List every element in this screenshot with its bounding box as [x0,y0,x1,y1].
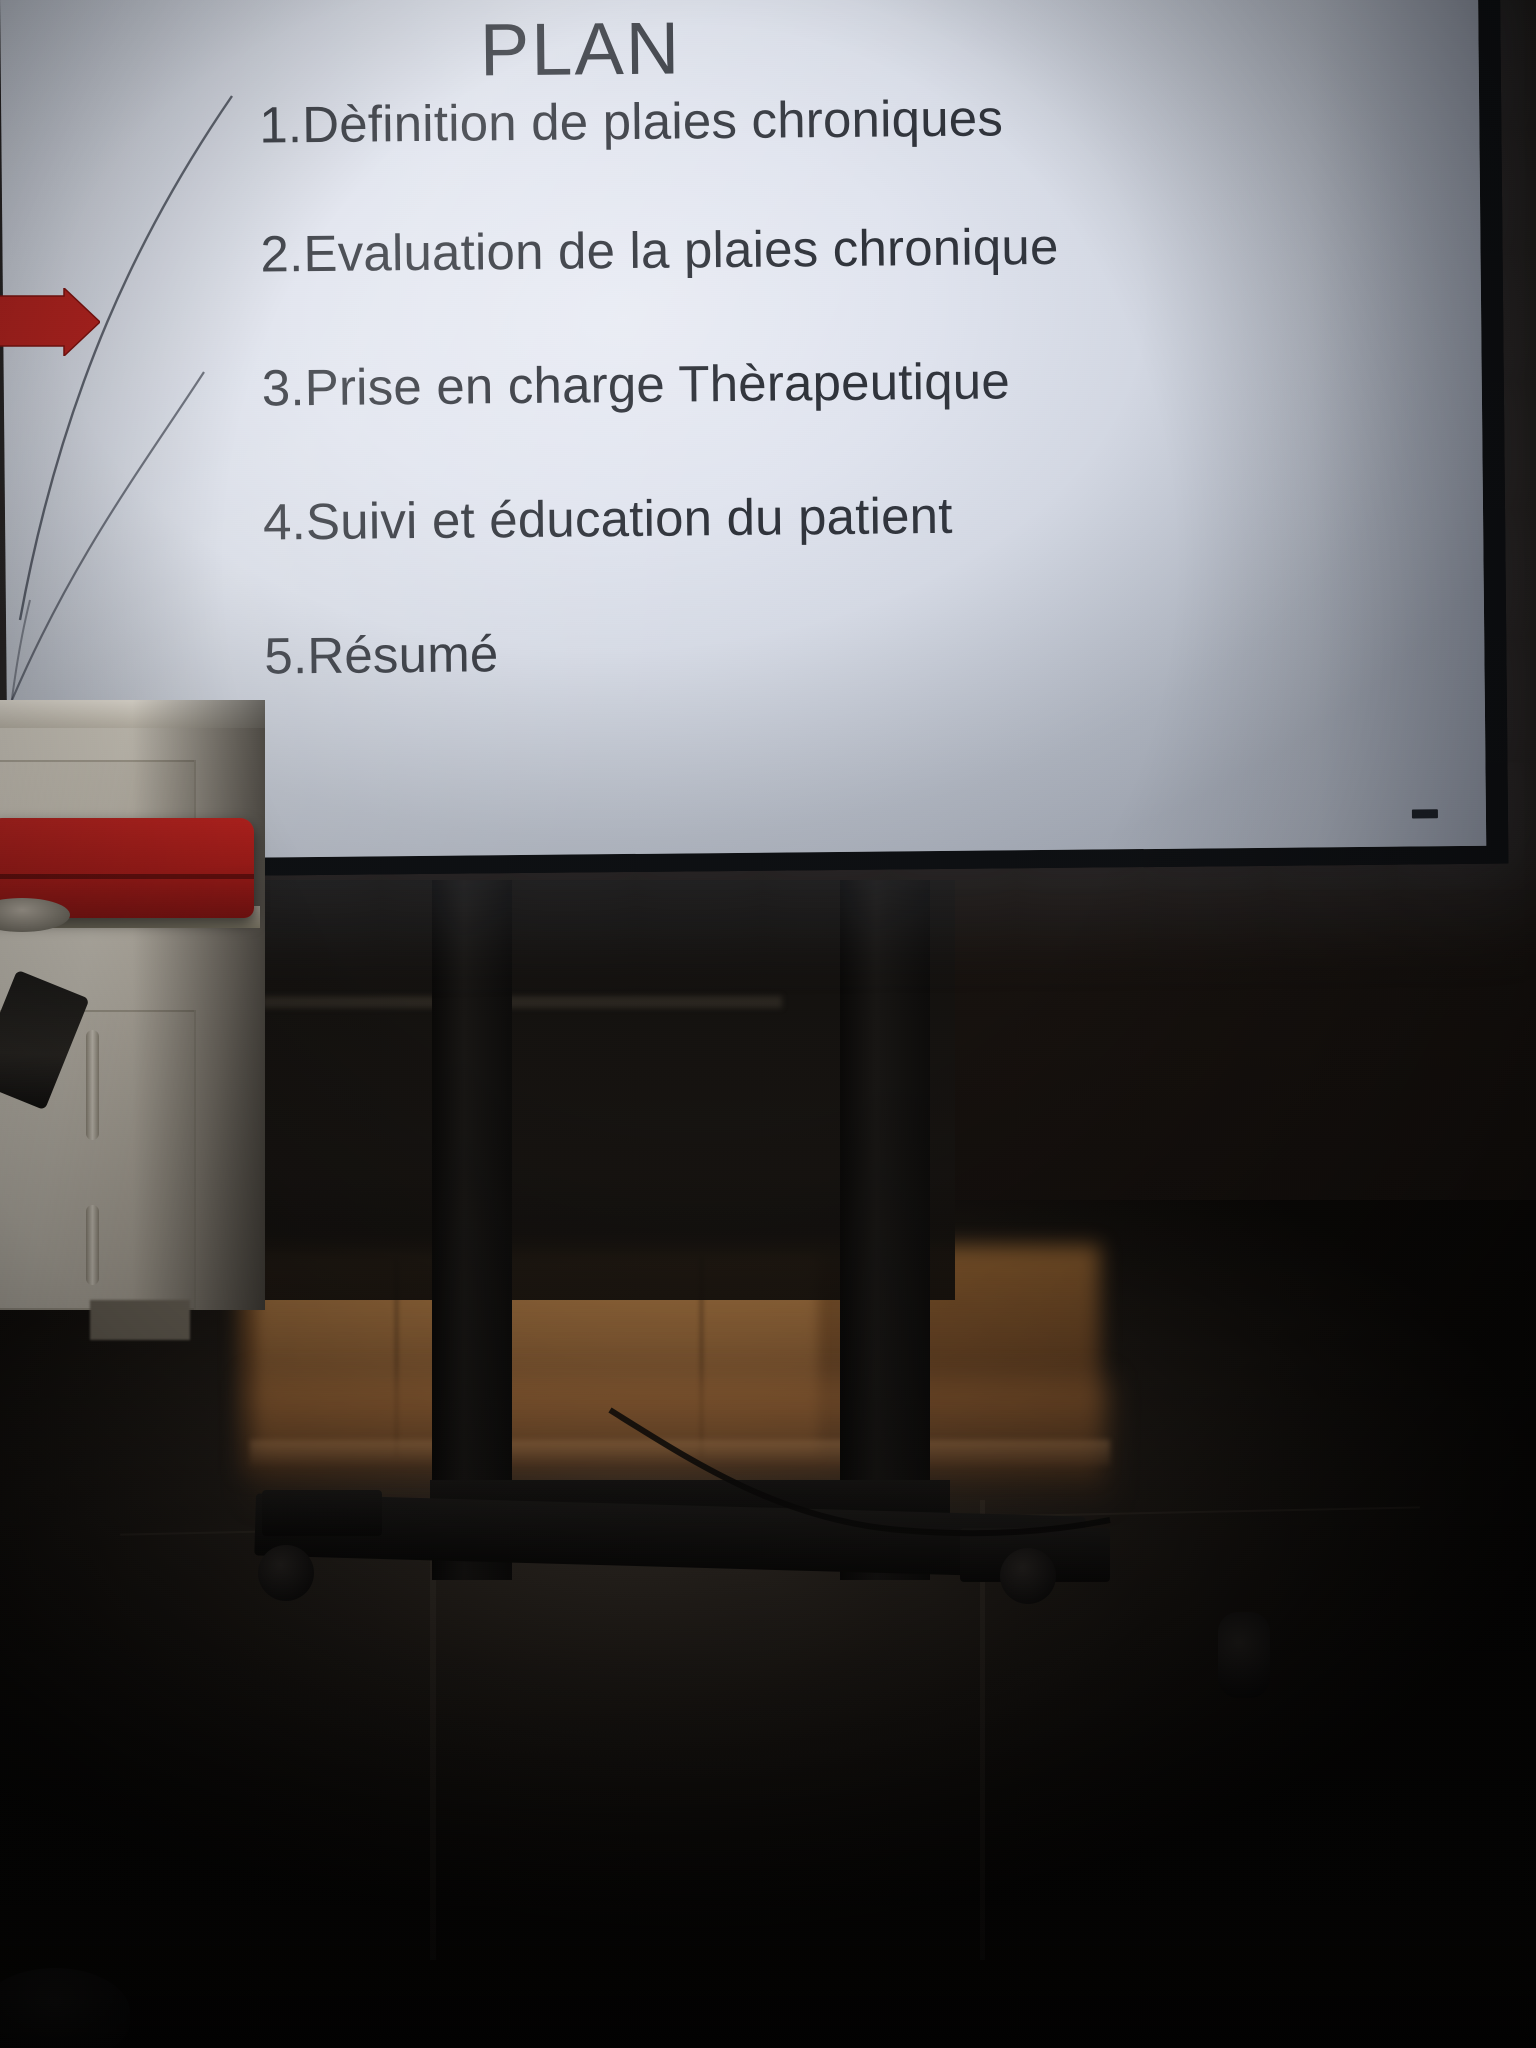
slide-list-item-2: 2.Evaluation de la plaies chronique [260,217,1440,279]
red-arrow-icon [0,288,100,356]
power-led-icon [1412,809,1438,818]
caster-wheel-mid [1000,1548,1056,1604]
slide-agenda-list: 1.Dèfinition de plaies chroniques 2.Eval… [259,88,1445,681]
stand-base-left-foot [262,1490,382,1536]
red-case-zipper [0,874,254,879]
cabinet-foot [90,1300,190,1340]
baseboard [250,1440,1110,1466]
floor-tile-line [430,1540,436,1960]
slide-list-item-1: 1.Dèfinition de plaies chroniques [259,88,1439,150]
caster-wheel-left [258,1545,314,1601]
slide-list-item-4: 4.Suivi et éducation du patient [263,485,1443,547]
stand-upper-crossbar [262,996,782,1008]
slide-list-item-5: 5.Résumé [264,619,1444,681]
caster-wheel-right [1218,1612,1270,1698]
photo-scene: PLAN 1.Dèfinition de plaies chroniques 2… [0,0,1536,2048]
slide-list-item-3: 3.Prise en charge Thèrapeutique [262,351,1442,413]
stand-post-left [432,880,512,1580]
stand-post-right [840,880,930,1580]
slide-title: PLAN [0,1,1161,97]
